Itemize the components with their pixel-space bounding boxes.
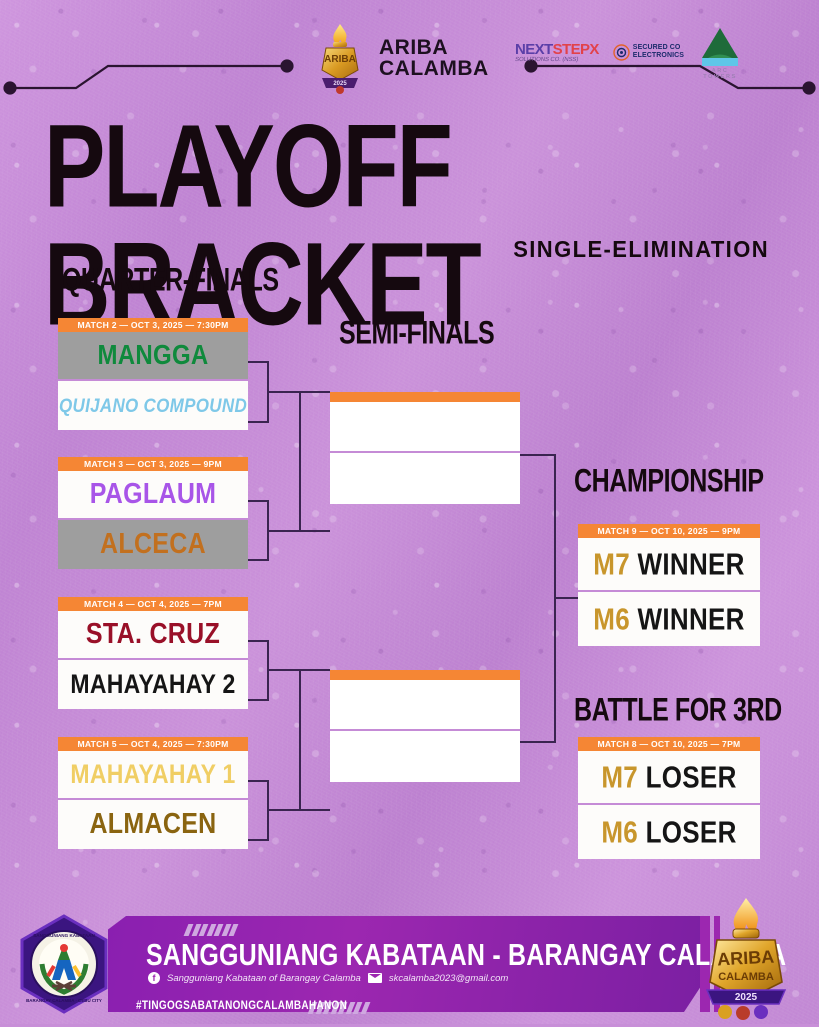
secured-co-text: SECURED CO ELECTRONICS (633, 44, 684, 61)
round-label-championship: CHAMPIONSHIP (574, 463, 764, 501)
svg-text:CALAMBA: CALAMBA (718, 971, 774, 983)
sf2-accent-bar (330, 670, 520, 680)
sf1-slot-1[interactable] (330, 402, 520, 453)
footer-email[interactable]: skcalamba2023@gmail.com (389, 973, 508, 984)
m6-loser-label: LOSER (646, 814, 737, 849)
svg-text:ARIBA: ARIBA (324, 54, 356, 65)
poster-header: ARIBA 2025 ARIBA CALAMBA NEXTSTEPX SOLUT… (0, 0, 819, 108)
match-card-battle-for-third[interactable]: MATCH 8 — OCT 10, 2025 — 7PM M7 LOSER M6… (578, 737, 760, 859)
poster-canvas: ARIBA 2025 ARIBA CALAMBA NEXTSTEPX SOLUT… (0, 0, 819, 1024)
sf2-slot-2[interactable] (330, 731, 520, 782)
match-header-qf2: MATCH 3 — OCT 3, 2025 — 9PM (58, 457, 248, 471)
match-header-qf3: MATCH 4 — OCT 4, 2025 — 7PM (58, 597, 248, 611)
round-label-quarter-finals: QUARTER-FINALS (62, 262, 279, 300)
team-name-mahayahay-1: MAHAYAHAY 1 (70, 759, 235, 790)
round-label-battle-for-third: BATTLE FOR 3RD (574, 692, 782, 730)
arc-towers-mountain-icon (698, 24, 742, 68)
svg-text:BARANGAY CALAMBA · CEBU CITY: BARANGAY CALAMBA · CEBU CITY (26, 998, 102, 1003)
team-slot-m6-winner[interactable]: M6 WINNER (578, 592, 760, 646)
m7-winner-prefix: M7 (593, 546, 630, 581)
team-slot-quijano-compound[interactable]: QUIJANO COMPOUND (58, 381, 248, 430)
sponsor-arc-towers: ARC TOWERS (698, 24, 742, 80)
svg-text:SANGGUNIANG KABATAAN: SANGGUNIANG KABATAAN (33, 933, 95, 938)
m6-winner-label: WINNER (638, 601, 745, 636)
team-slot-alceca[interactable]: ALCECA (58, 520, 248, 569)
round-label-semi-finals: SEMI-FINALS (339, 315, 494, 353)
format-subtitle: SINGLE-ELIMINATION (513, 236, 769, 264)
facebook-icon[interactable]: f (148, 972, 160, 984)
event-logo-lockup: ARIBA 2025 ARIBA CALAMBA (309, 22, 489, 94)
brand-line-2: CALAMBA (379, 58, 489, 79)
footer-stripes-top (186, 924, 236, 936)
match-card-qf4[interactable]: MATCH 5 — OCT 4, 2025 — 7:30PM MAHAYAHAY… (58, 737, 248, 849)
sf1-accent-bar (330, 392, 520, 402)
mail-icon[interactable] (368, 973, 382, 983)
svg-text:ARIBA: ARIBA (717, 947, 775, 970)
team-slot-paglaum[interactable]: PAGLAUM (58, 471, 248, 520)
arc-towers-label: ARC TOWERS (698, 68, 742, 80)
sf2-slot-1[interactable] (330, 680, 520, 731)
match-header-qf1: MATCH 2 — OCT 3, 2025 — 7:30PM (58, 318, 248, 332)
team-slot-mangga[interactable]: MANGGA (58, 332, 248, 381)
ariba-calamba-2025-torch-logo: ARIBA CALAMBA 2025 (687, 896, 805, 1022)
m7-loser-label: LOSER (646, 759, 737, 794)
sponsor-nextstepx: NEXTSTEPX SOLUTIONS CO. (NSS) (515, 42, 599, 63)
team-name-mangga: MANGGA (97, 339, 208, 371)
match-card-sf1[interactable] (330, 392, 520, 504)
match-card-sf2[interactable] (330, 670, 520, 782)
secured-co-line-1: SECURED CO (633, 44, 684, 53)
team-name-mahayahay-2: MAHAYAHAY 2 (70, 669, 235, 700)
m6-winner-prefix: M6 (593, 601, 630, 636)
m6-loser-text: M6 LOSER (601, 814, 736, 850)
match-header-battle-for-third: MATCH 8 — OCT 10, 2025 — 7PM (578, 737, 760, 751)
team-name-sta-cruz: STA. CRUZ (86, 618, 220, 652)
match-card-championship[interactable]: MATCH 9 — OCT 10, 2025 — 9PM M7 WINNER M… (578, 524, 760, 646)
team-slot-mahayahay-2[interactable]: MAHAYAHAY 2 (58, 660, 248, 709)
m7-winner-label: WINNER (638, 546, 745, 581)
m6-loser-prefix: M6 (601, 814, 638, 849)
footer-contacts: f Sangguniang Kabataan of Barangay Calam… (148, 972, 508, 984)
team-slot-sta-cruz[interactable]: STA. CRUZ (58, 611, 248, 660)
team-name-almacen: ALMACEN (89, 808, 216, 842)
footer-facebook-handle[interactable]: Sangguniang Kabataan of Barangay Calamba (167, 973, 361, 984)
sponsor-secured-co: SECURED CO ELECTRONICS (613, 44, 684, 61)
svg-text:2025: 2025 (735, 992, 758, 1003)
match-card-qf3[interactable]: MATCH 4 — OCT 4, 2025 — 7PM STA. CRUZ MA… (58, 597, 248, 709)
match-header-championship: MATCH 9 — OCT 10, 2025 — 9PM (578, 524, 760, 538)
ariba-torch-logo: ARIBA 2025 (309, 22, 371, 94)
page-title: PLAYOFF BRACKET (44, 108, 784, 344)
m7-winner-text: M7 WINNER (593, 546, 745, 582)
team-slot-almacen[interactable]: ALMACEN (58, 800, 248, 849)
m7-loser-text: M7 LOSER (601, 759, 736, 795)
m7-loser-prefix: M7 (601, 759, 638, 794)
match-header-qf4: MATCH 5 — OCT 4, 2025 — 7:30PM (58, 737, 248, 751)
team-slot-m6-loser[interactable]: M6 LOSER (578, 805, 760, 859)
brand-text: ARIBA CALAMBA (379, 37, 489, 79)
match-card-qf2[interactable]: MATCH 3 — OCT 3, 2025 — 9PM PAGLAUM ALCE… (58, 457, 248, 569)
team-slot-mahayahay-1[interactable]: MAHAYAHAY 1 (58, 751, 248, 800)
sponsor-nextstepx-sub: SOLUTIONS CO. (NSS) (515, 57, 600, 63)
team-slot-m7-winner[interactable]: M7 WINNER (578, 538, 760, 592)
brand-line-1: ARIBA (379, 37, 489, 58)
m6-winner-text: M6 WINNER (593, 601, 745, 637)
sk-barangay-calamba-seal: SANGGUNIANG KABATAAN BARANGAY CALAMBA · … (14, 914, 114, 1014)
poster-footer: SANGGUNIANG KABATAAN BARANGAY CALAMBA · … (0, 902, 819, 1024)
nextstepx-logo: NEXTSTEPX (515, 42, 599, 57)
team-name-paglaum: PAGLAUM (90, 478, 217, 512)
footer-hashtag: #TINGOGSABATANONGCALAMBAHANON (136, 1000, 347, 1013)
secured-co-line-2: ELECTRONICS (633, 52, 684, 61)
sponsor-logos: NEXTSTEPX SOLUTIONS CO. (NSS) SECURED CO… (515, 24, 742, 80)
team-slot-m7-loser[interactable]: M7 LOSER (578, 751, 760, 805)
secured-co-target-icon (613, 44, 630, 61)
team-name-alceca: ALCECA (100, 528, 206, 562)
sf1-slot-2[interactable] (330, 453, 520, 504)
team-name-quijano-compound: QUIJANO COMPOUND (59, 394, 247, 417)
match-card-qf1[interactable]: MATCH 2 — OCT 3, 2025 — 7:30PM MANGGA QU… (58, 318, 248, 430)
